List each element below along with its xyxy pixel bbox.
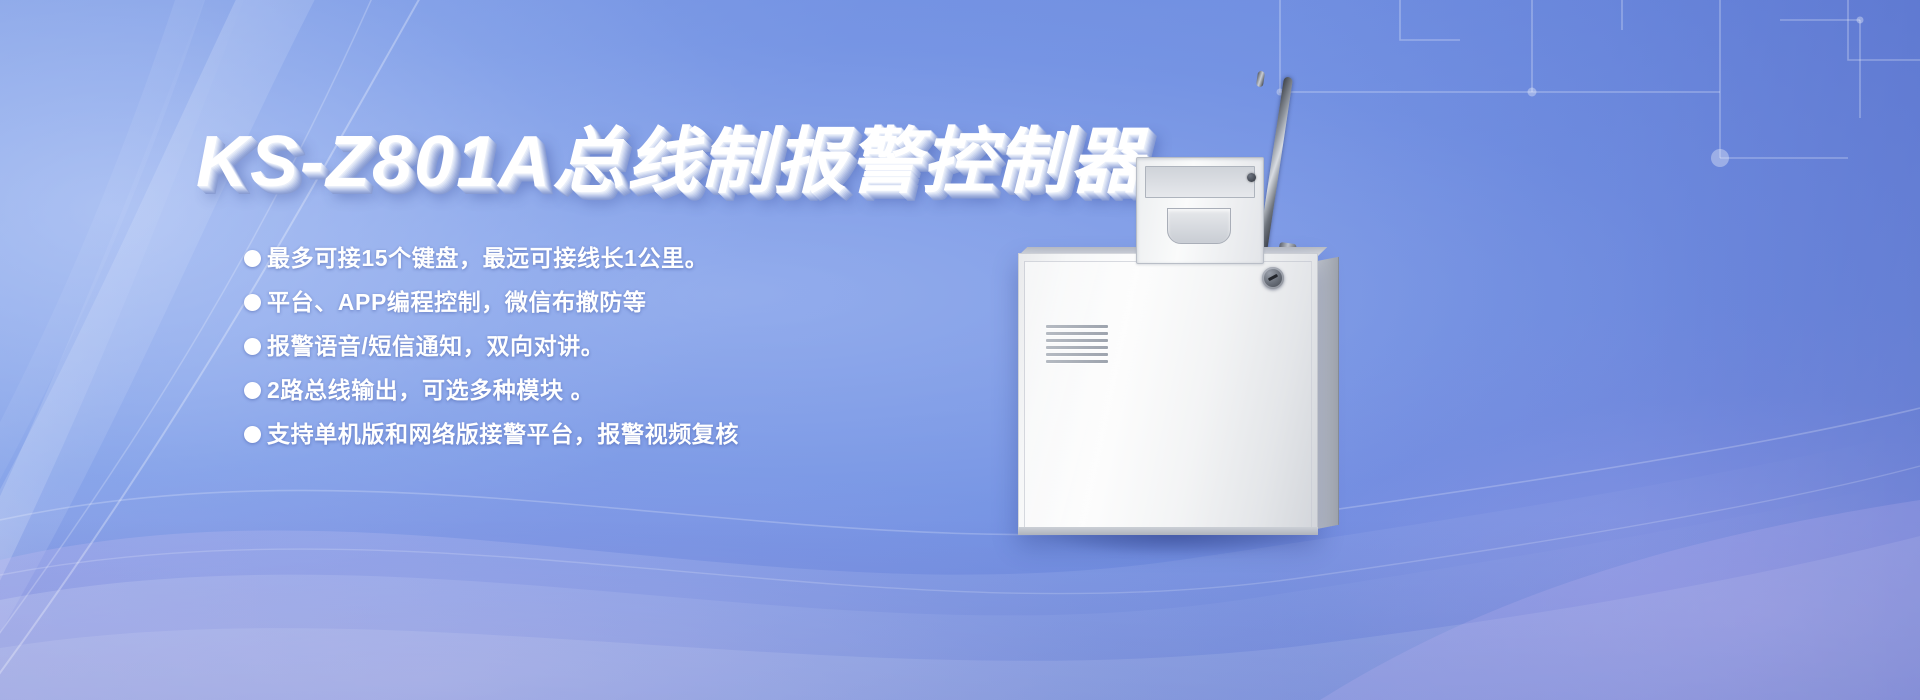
bullet-dot-icon (244, 382, 261, 399)
list-item: 最多可接15个键盘，最远可接线长1公里。 (244, 236, 1064, 280)
ventilation-louvers (1046, 325, 1108, 365)
feature-text: 最多可接15个键盘，最远可接线长1公里。 (267, 247, 708, 270)
feature-list: 最多可接15个键盘，最远可接线长1公里。 平台、APP编程控制，微信布撤防等 报… (244, 236, 1064, 456)
status-led-icon (1247, 173, 1256, 182)
bullet-dot-icon (244, 250, 261, 267)
list-item: 平台、APP编程控制，微信布撤防等 (244, 280, 1064, 324)
feature-text: 支持单机版和网络版接警平台，报警视频复核 (267, 423, 739, 446)
feature-text: 报警语音/短信通知，双向对讲。 (267, 335, 604, 358)
list-item: 2路总线输出，可选多种模块 。 (244, 368, 1064, 412)
page-title: KS-Z801A总线制报警控制器 (196, 124, 1144, 202)
enclosure-door (1024, 261, 1312, 529)
enclosure-side-face (1317, 257, 1339, 529)
bullet-dot-icon (244, 338, 261, 355)
bullet-dot-icon (244, 294, 261, 311)
bay-handle (1167, 208, 1231, 244)
printer-bay (1136, 157, 1264, 264)
bullet-dot-icon (244, 426, 261, 443)
enclosure-bottom-lip (1018, 527, 1318, 535)
antenna-tip (1256, 71, 1265, 88)
feature-text: 平台、APP编程控制，微信布撤防等 (267, 291, 647, 314)
list-item: 支持单机版和网络版接警平台，报警视频复核 (244, 412, 1064, 456)
printer-slot (1145, 166, 1255, 198)
feature-text: 2路总线输出，可选多种模块 。 (267, 379, 594, 402)
product-image (1010, 75, 1430, 565)
product-banner: KS-Z801A总线制报警控制器 最多可接15个键盘，最远可接线长1公里。 平台… (0, 0, 1920, 700)
list-item: 报警语音/短信通知，双向对讲。 (244, 324, 1064, 368)
